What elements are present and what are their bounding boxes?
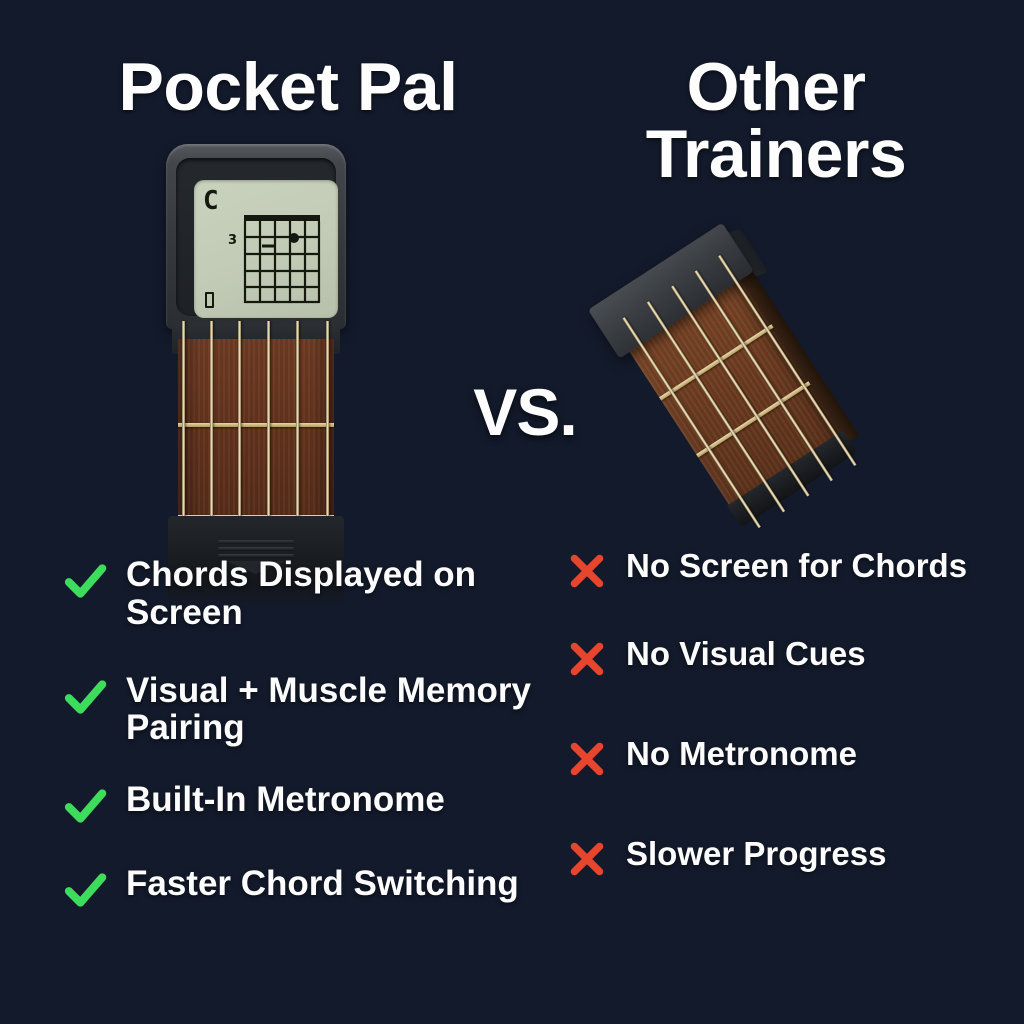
cons-list: No Screen for Chords No Visual Cues No M… xyxy=(566,548,996,880)
pros-list-item-label: Faster Chord Switching xyxy=(126,865,519,903)
guitar-string xyxy=(267,321,270,521)
pros-list-item: Faster Chord Switching xyxy=(62,865,532,913)
cons-list-item: No Screen for Chords xyxy=(566,548,996,592)
pros-list-item-label: Chords Displayed on Screen xyxy=(126,556,532,632)
guitar-string xyxy=(210,321,213,521)
cross-icon xyxy=(566,838,608,880)
lcd-chord-name: C xyxy=(203,188,219,214)
cons-list-item: Slower Progress xyxy=(566,836,996,880)
right-column-heading: Other Trainers xyxy=(566,54,986,187)
cons-list-item-label: No Screen for Chords xyxy=(626,548,967,584)
pros-list-item-label: Built-In Metronome xyxy=(126,781,445,819)
device-bezel: C 3 xyxy=(166,144,346,329)
chord-diagram-icon xyxy=(242,213,322,305)
lcd-fret-number: 3 xyxy=(228,233,237,248)
check-icon xyxy=(62,674,108,720)
check-icon xyxy=(62,558,108,604)
pros-list-item: Built-In Metronome xyxy=(62,781,532,829)
guitar-string xyxy=(296,321,299,521)
cross-icon xyxy=(566,738,608,780)
guitar-string xyxy=(182,321,185,521)
fretboard xyxy=(178,339,334,519)
cross-icon xyxy=(566,638,608,680)
pros-list-item-label: Visual + Muscle Memory Pairing xyxy=(126,672,532,748)
check-icon xyxy=(62,783,108,829)
other-trainer-device-image xyxy=(585,205,905,495)
left-column-heading: Pocket Pal xyxy=(78,54,498,121)
comparison-infographic: Pocket Pal Other Trainers C 3 xyxy=(0,0,1024,1024)
guitar-string xyxy=(238,321,241,521)
cons-list-item: No Metronome xyxy=(566,736,996,780)
cons-list-item-label: No Metronome xyxy=(626,736,857,772)
cons-list-item: No Visual Cues xyxy=(566,636,996,680)
cons-list-item-label: No Visual Cues xyxy=(626,636,866,672)
guitar-string xyxy=(326,321,329,521)
check-icon xyxy=(62,867,108,913)
pros-list: Chords Displayed on Screen Visual + Musc… xyxy=(62,556,532,913)
pros-list-item: Visual + Muscle Memory Pairing xyxy=(62,672,532,748)
battery-icon xyxy=(205,292,214,308)
cons-list-item-label: Slower Progress xyxy=(626,836,886,872)
fret-wire xyxy=(178,423,334,427)
right-heading-line-1: Other xyxy=(566,54,986,121)
lcd-screen: C 3 xyxy=(194,180,338,318)
device-screen-frame: C 3 xyxy=(176,158,336,316)
cross-icon xyxy=(566,550,608,592)
pocket-pal-device-image: C 3 xyxy=(166,144,346,564)
pros-list-item: Chords Displayed on Screen xyxy=(62,556,532,632)
